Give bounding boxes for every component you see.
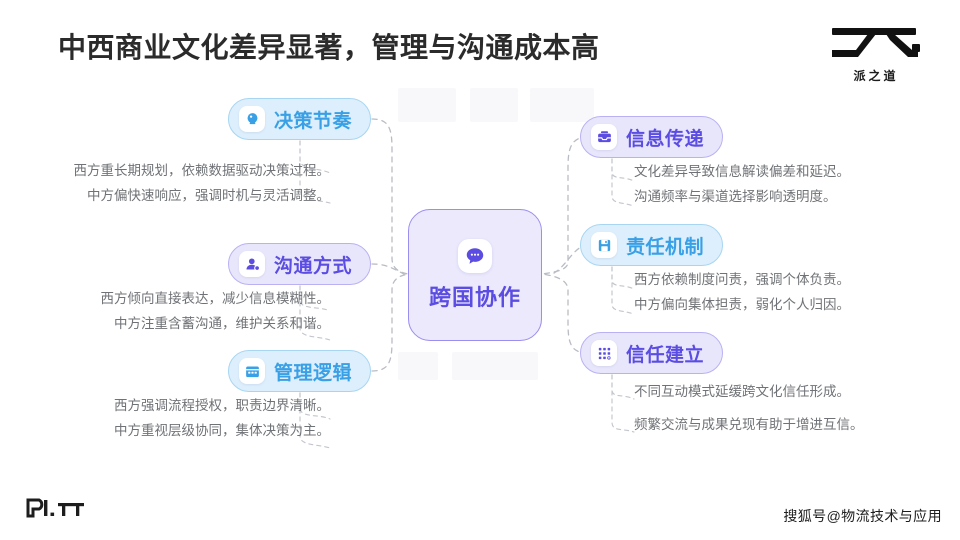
center-node-label: 跨国协作 (429, 280, 521, 312)
branch-card-decision-rhythm[interactable]: 决策节奏 (228, 98, 371, 140)
center-node-cross-border-collaboration[interactable]: 跨国协作 (408, 209, 542, 341)
person-search-icon (239, 251, 265, 277)
branch-bullets-accountability-mechanism: 西方依赖制度问责，强调个体负责。 中方偏向集体担责，弱化个人归因。 (634, 267, 954, 317)
branch-bullets-information-transfer: 文化差异导致信息解读偏差和延迟。 沟通频率与渠道选择影响透明度。 (634, 159, 954, 209)
speech-bubble-icon (458, 239, 492, 273)
bullet-item: 西方重长期规划，依赖数据驱动决策过程。 (20, 158, 330, 183)
footer-account: 搜狐号@物流技术与应用 (783, 506, 942, 526)
bullet-item: 沟通频率与渠道选择影响透明度。 (634, 184, 954, 209)
branch-card-label: 信任建立 (626, 340, 704, 367)
branch-card-trust-building[interactable]: 信任建立 (580, 332, 723, 374)
branch-card-label: 信息传递 (626, 124, 704, 151)
save-disk-icon (591, 232, 617, 258)
pi-pi-logo-icon (26, 497, 88, 519)
watermark-block (398, 352, 438, 380)
branch-card-label: 管理逻辑 (274, 358, 352, 385)
bullet-item: 西方依赖制度问责，强调个体负责。 (634, 267, 954, 292)
watermark-block (530, 88, 594, 122)
branch-card-label: 沟通方式 (274, 251, 352, 278)
branch-bullets-decision-rhythm: 西方重长期规划，依赖数据驱动决策过程。 中方偏快速响应，强调时机与灵活调整。 (20, 158, 330, 208)
bullet-item: 文化差异导致信息解读偏差和延迟。 (634, 159, 954, 184)
watermark-block (398, 88, 456, 122)
brand-name: 派之道 (822, 67, 930, 84)
branch-card-label: 决策节奏 (274, 106, 352, 133)
branch-card-management-logic[interactable]: 管理逻辑 (228, 350, 371, 392)
watermark-block (452, 352, 538, 380)
brand-logo: 派之道 (822, 22, 930, 84)
slide-canvas: 中西商业文化差异显著，管理与沟通成本高 派之道 (0, 0, 960, 540)
pai-zhi-dao-logo-icon (828, 22, 924, 66)
bullet-item: 不同互动模式延缓跨文化信任形成。 (634, 375, 954, 408)
bullet-item: 频繁交流与成果兑现有助于增进互信。 (634, 408, 954, 441)
bullet-item: 西方倾向直接表达，减少信息模糊性。 (20, 286, 330, 311)
footer-logo (26, 497, 88, 524)
bullet-item: 中方偏向集体担责，弱化个人归因。 (634, 292, 954, 317)
grid-dots-icon (591, 340, 617, 366)
branch-bullets-trust-building: 不同互动模式延缓跨文化信任形成。 频繁交流与成果兑现有助于增进互信。 (634, 375, 954, 441)
bullet-item: 中方注重含蓄沟通，维护关系和谐。 (20, 311, 330, 336)
branch-card-label: 责任机制 (626, 232, 704, 259)
branch-card-accountability-mechanism[interactable]: 责任机制 (580, 224, 723, 266)
branch-card-information-transfer[interactable]: 信息传递 (580, 116, 723, 158)
bullet-item: 中方偏快速响应，强调时机与灵活调整。 (20, 183, 330, 208)
watermark-block (470, 88, 518, 122)
bullet-item: 中方重视层级协同，集体决策为主。 (20, 418, 330, 443)
branch-bullets-communication-style: 西方倾向直接表达，减少信息模糊性。 中方注重含蓄沟通，维护关系和谐。 (20, 286, 330, 336)
inbox-icon (591, 124, 617, 150)
branch-bullets-management-logic: 西方强调流程授权，职责边界清晰。 中方重视层级协同，集体决策为主。 (20, 393, 330, 443)
branch-card-communication-style[interactable]: 沟通方式 (228, 243, 371, 285)
bullet-item: 西方强调流程授权，职责边界清晰。 (20, 393, 330, 418)
page-title: 中西商业文化差异显著，管理与沟通成本高 (58, 26, 600, 66)
calendar-icon (239, 358, 265, 384)
lightbulb-icon (239, 106, 265, 132)
